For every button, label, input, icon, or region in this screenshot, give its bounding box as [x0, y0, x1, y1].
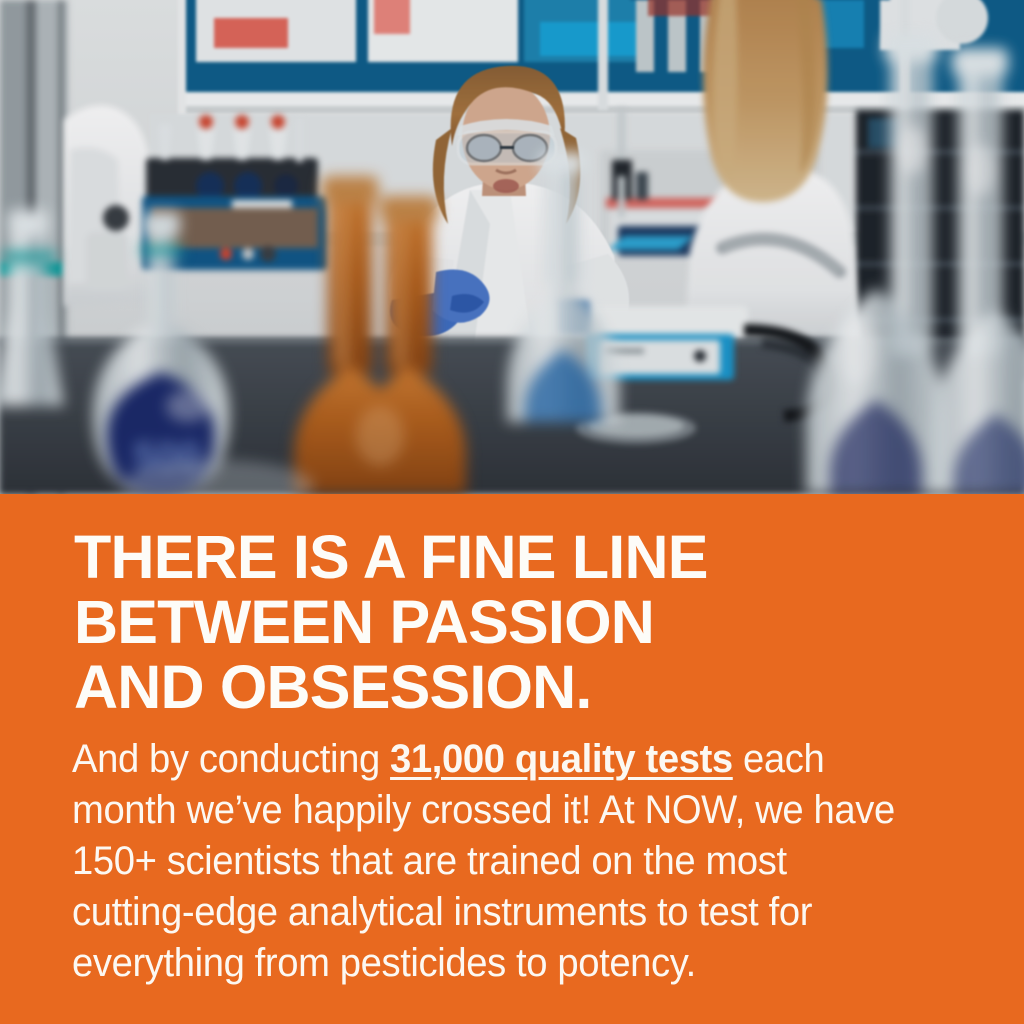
quality-tests-highlight: 31,000 quality tests — [390, 737, 733, 781]
copy-panel: THERE IS A FINE LINE BETWEEN PASSION AND… — [0, 494, 1024, 1024]
laboratory-photo-illustration: 500 — [0, 0, 1024, 494]
body-copy: And by conducting 31,000 quality tests e… — [72, 734, 895, 989]
body-copy-lead: And by conducting — [72, 737, 390, 781]
page-title: THERE IS A FINE LINE BETWEEN PASSION AND… — [74, 525, 954, 720]
promo-card: 500 — [0, 0, 1024, 1024]
laboratory-photo: 500 — [0, 0, 1024, 494]
